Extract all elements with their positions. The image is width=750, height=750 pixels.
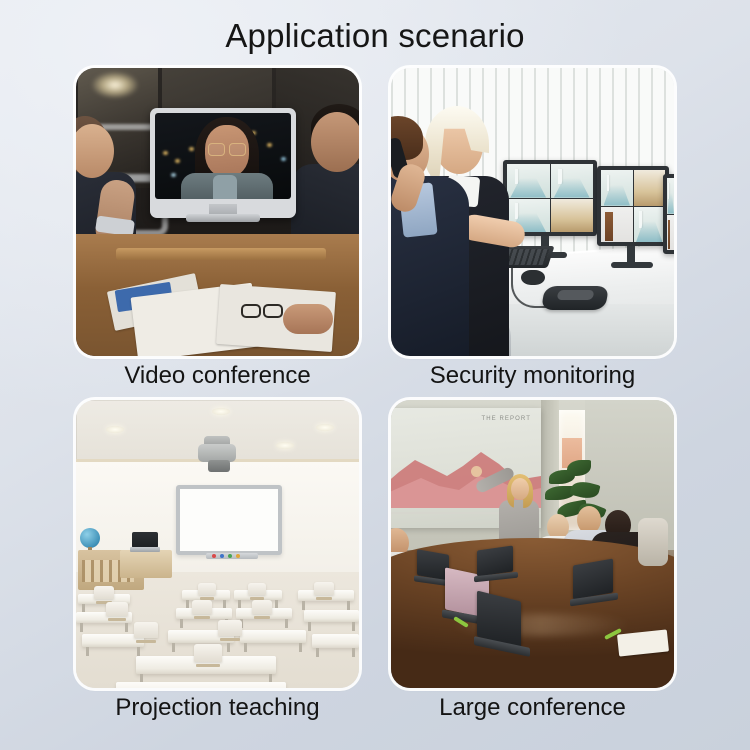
scenario-card-video-conference[interactable]: Video conference (76, 68, 359, 356)
monitor-base (611, 262, 653, 268)
page-title: Application scenario (0, 14, 750, 58)
scenario-caption-projection-teaching: Projection teaching (76, 692, 359, 724)
office-chair-back (638, 518, 668, 566)
video-conference-photo (76, 68, 359, 356)
glasses-on-table-icon (241, 304, 283, 314)
student-chair (192, 600, 212, 614)
large-conference-photo: THE REPORT (391, 400, 674, 688)
scenario-caption-video-conference: Video conference (76, 360, 359, 392)
cctv-feed (667, 178, 674, 214)
student-chair (252, 600, 272, 614)
student-chair (106, 602, 128, 616)
control-desk-front (483, 304, 674, 356)
student-chair (194, 644, 222, 662)
cctv-feed (551, 164, 594, 198)
teacher-desk (120, 550, 172, 578)
whiteboard (176, 485, 282, 555)
ceiling-downlight (276, 442, 294, 449)
student-chair (94, 586, 114, 599)
ceiling-downlight (316, 424, 334, 431)
video-call-screen (155, 113, 291, 199)
scenario-caption-security-monitoring: Security monitoring (391, 360, 674, 392)
laptop-screen (132, 532, 158, 548)
table-edge (116, 248, 326, 260)
cctv-feed (601, 170, 633, 206)
student-chair (248, 583, 266, 595)
scenario-card-security-monitoring[interactable]: Security monitoring (391, 68, 674, 356)
student-desk (312, 634, 359, 648)
projector-lens-icon (208, 460, 230, 472)
globe-icon (80, 528, 100, 548)
cctv-feed (634, 170, 666, 206)
laptop-keyboard (130, 547, 160, 552)
caller-shirt (213, 175, 237, 199)
scenario-card-large-conference[interactable]: THE REPORT (391, 400, 674, 688)
student-desk (116, 682, 286, 688)
conference-speakerphone (541, 286, 609, 310)
cctv-feed (551, 199, 594, 233)
student-desk (240, 630, 306, 643)
student-chair (218, 620, 242, 636)
right-person-hand (283, 304, 333, 334)
scenario-caption-large-conference: Large conference (391, 692, 674, 724)
ceiling-downlight (106, 426, 124, 433)
student-desk (304, 610, 359, 622)
cctv-monitor-3 (663, 174, 674, 254)
desktop-monitor (150, 108, 296, 218)
cctv-quad-view (667, 178, 674, 250)
eyeglasses-icon (208, 143, 246, 154)
student-chair (314, 582, 334, 595)
security-monitoring-photo (391, 68, 674, 356)
cctv-quad-view (601, 170, 665, 242)
computer-mouse (521, 270, 545, 285)
presenter-hand (471, 466, 482, 477)
student-chair (198, 583, 216, 595)
ceiling-downlight (212, 408, 230, 415)
cctv-monitor-2 (597, 166, 669, 246)
cctv-feed (667, 215, 674, 251)
cctv-feed (507, 164, 550, 198)
monitor-foot (186, 214, 260, 222)
projection-teaching-photo (76, 400, 359, 688)
ceiling-light-glow (92, 72, 138, 98)
cctv-quad-view (507, 164, 593, 232)
right-person-head (311, 112, 359, 172)
presenter-head (511, 478, 529, 500)
student-chair (134, 622, 158, 638)
marker-tray (206, 553, 258, 559)
scenario-card-projection-teaching[interactable]: Projection teaching (76, 400, 359, 688)
slide-heading: THE REPORT (481, 416, 531, 422)
cctv-feed (634, 207, 666, 243)
cctv-feed (601, 207, 633, 243)
teacher-laptop (130, 532, 160, 552)
scenario-grid: Video conference (76, 68, 674, 688)
